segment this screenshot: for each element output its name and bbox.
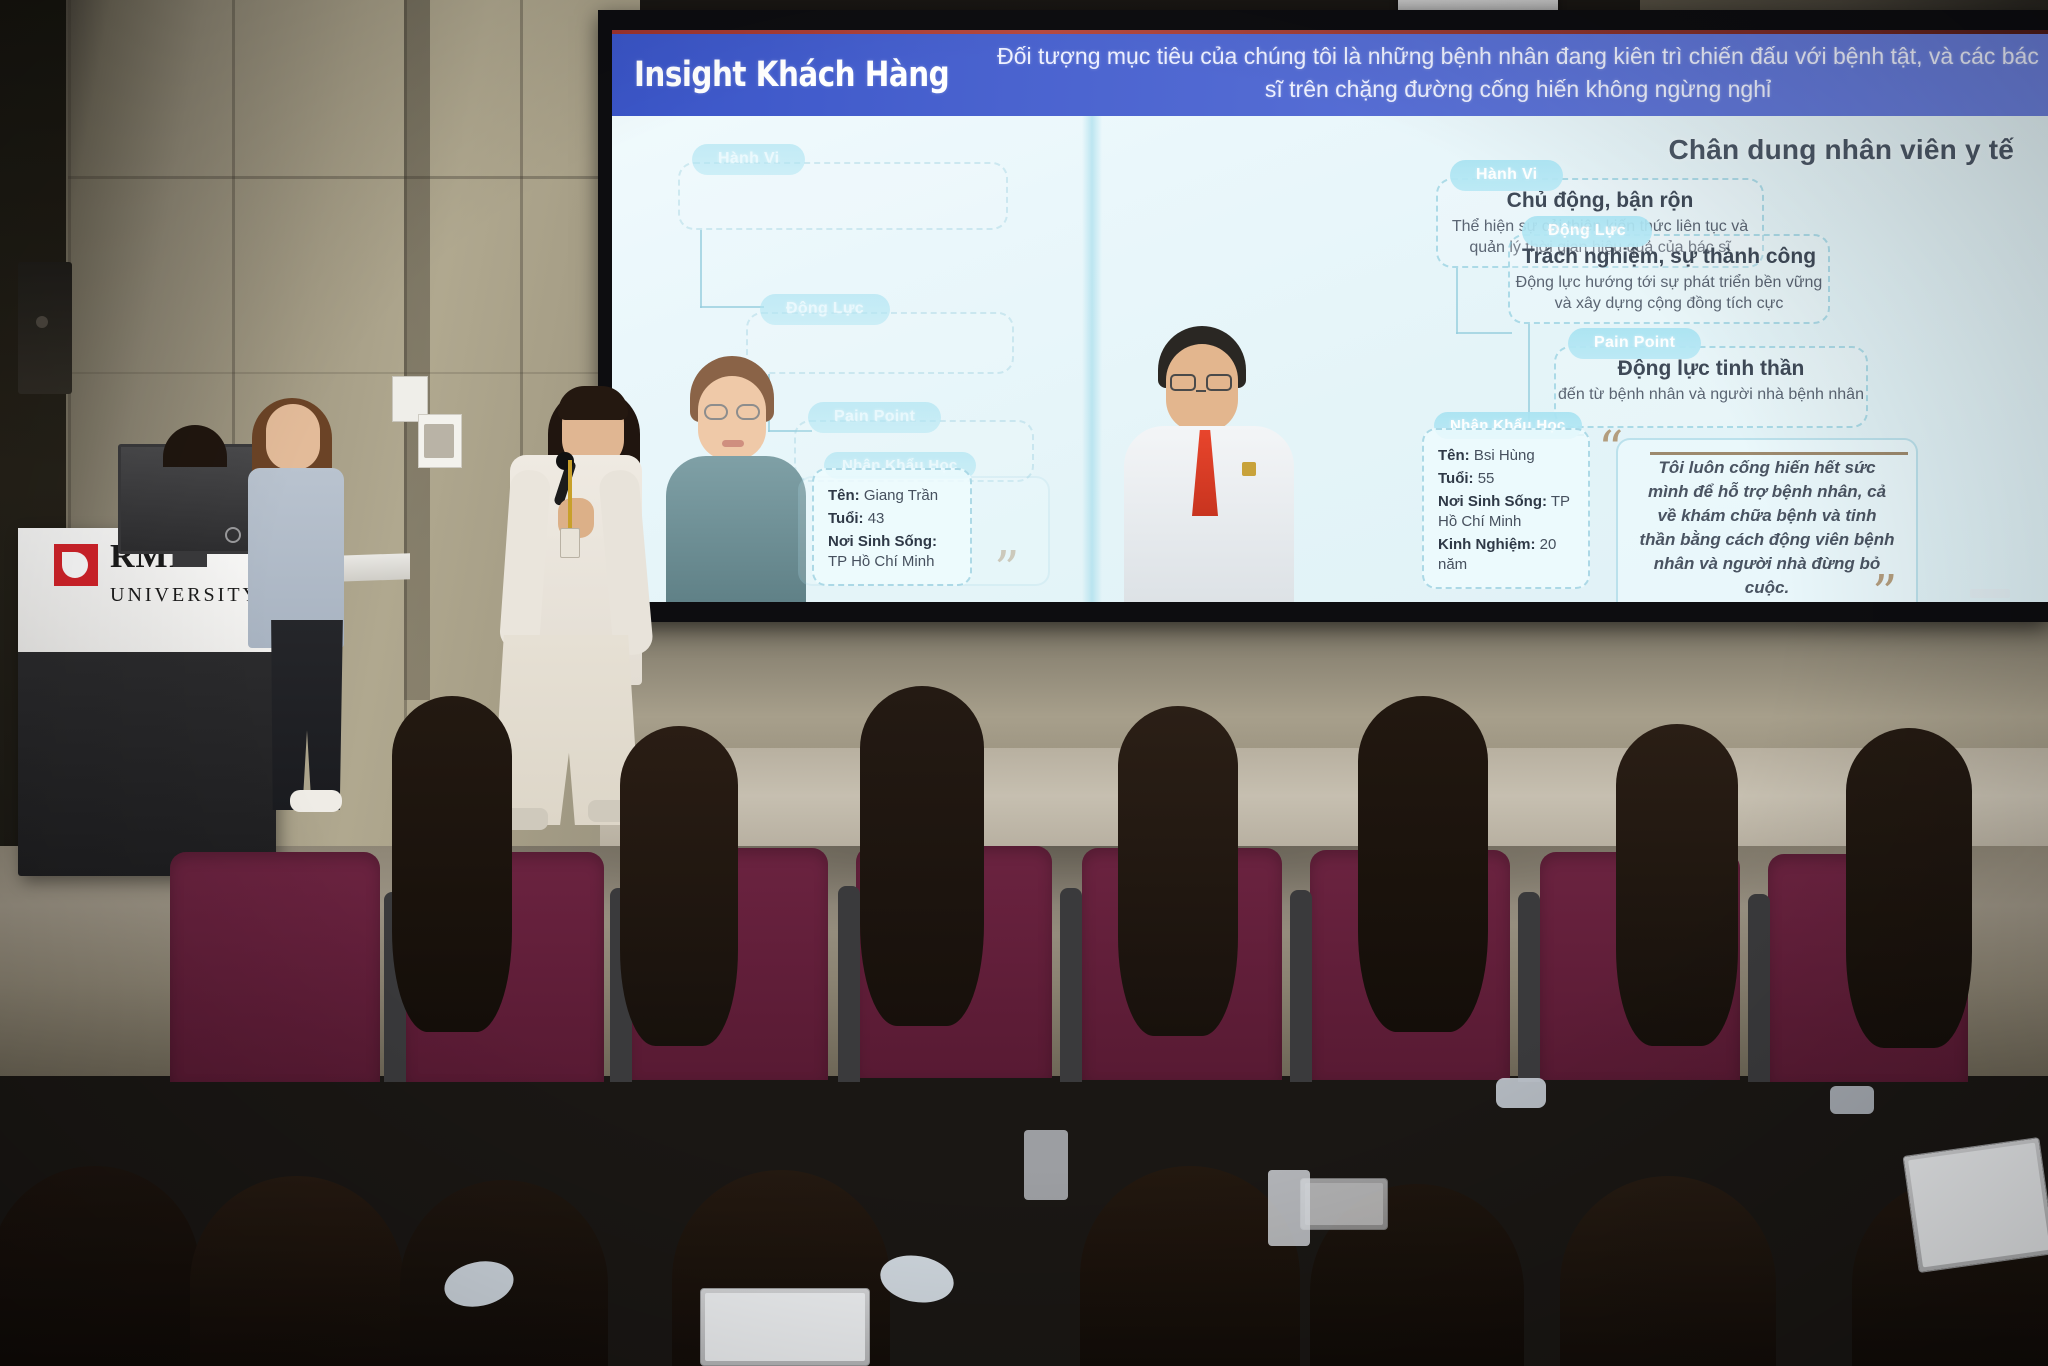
hair-clip-accessory (1830, 1086, 1874, 1114)
slide-header: Insight Khách Hàng Đối tượng mục tiêu củ… (612, 34, 2048, 116)
patient-mouth (722, 440, 744, 447)
laptop-screen (1305, 1183, 1383, 1225)
doctor-badge (1242, 462, 1256, 476)
doctor-glasses-bridge (1196, 390, 1206, 392)
right-card-2-body: đến từ bệnh nhân và người nhà bệnh nhân (1556, 384, 1866, 405)
audience-laptop (1902, 1137, 2048, 1273)
audience-laptop (700, 1288, 870, 1366)
seat-armrest (838, 886, 860, 1082)
lectern-podium: RMIT UNIVERSITY (18, 528, 276, 876)
doctor-glasses-right (1206, 374, 1232, 391)
left-persona-panel: Hành Vi Động Lực Pain Point (612, 116, 1082, 602)
wall-band-upper (600, 612, 2048, 762)
patient-demographics-card: Tên: Giang Trần Tuổi: 43 Nơi Sinh Sống: … (812, 468, 972, 586)
presenter-fringe (558, 386, 628, 420)
slide-subtitle: Đối tượng mục tiêu của chúng tôi là nhữn… (992, 40, 2048, 106)
quote-open-icon: “ (1598, 424, 1624, 474)
left-card-tag-pain-point: Pain Point (808, 402, 941, 433)
right-persona-panel: Chân dung nhân viên y tế Hành Vi Chủ độn… (1104, 116, 2048, 602)
left-connector-1 (700, 230, 702, 308)
seat (170, 852, 380, 1082)
quote-close-icon: ” (1872, 568, 1898, 602)
right-panel-heading: Chân dung nhân viên y tế (1669, 134, 2015, 166)
patient-glasses-right (736, 404, 760, 420)
doctor-demo-row-2-label: Nơi Sinh Sống: (1438, 493, 1547, 510)
doctor-glasses-left (1170, 374, 1196, 391)
seat-armrest (1290, 890, 1312, 1082)
left-card-tag-hanh-vi: Hành Vi (692, 144, 805, 175)
quote-rule-top (1650, 452, 1908, 455)
wall-pillar (404, 0, 430, 700)
seat-armrest (1060, 888, 1082, 1082)
wall-notice-photo (424, 424, 454, 458)
lanyard-strap (568, 460, 572, 532)
hair-clip-accessory (1496, 1078, 1546, 1108)
doctor-demo-row-0-value: Bsi Hùng (1474, 447, 1535, 464)
left-connector-2 (700, 306, 764, 308)
rmit-university-text: UNIVERSITY (110, 584, 260, 607)
slide-title: Insight Khách Hàng (634, 55, 949, 95)
left-card-tag-dong-luc: Động Lực (760, 294, 890, 325)
doctor-photo (1114, 322, 1304, 602)
dell-logo-icon (225, 527, 241, 543)
audience-notebook (1268, 1170, 1310, 1246)
second-presenter-head (266, 404, 320, 470)
doctor-demo-row-1-label: Tuổi: (1438, 470, 1474, 487)
doctor-demo-row-1-value: 55 (1478, 470, 1495, 487)
laptop-screen (705, 1293, 865, 1361)
panel-divider (1082, 116, 1102, 602)
patient-photo (652, 352, 817, 602)
wall-speaker-driver (36, 316, 48, 328)
wall-seam-h2 (68, 372, 608, 374)
laptop-screen (1908, 1143, 2048, 1268)
seat-armrest (1518, 892, 1540, 1082)
right-card-dong-luc: Trách nghiệm, sự thành công Động lực hướ… (1508, 234, 1830, 324)
patient-demo-row-0-label: Tên: (828, 487, 860, 504)
right-card-0-headline: Chủ động, bận rộn (1438, 188, 1762, 214)
doctor-quote-text: Tôi luôn cống hiến hết sức mình để hỗ tr… (1638, 456, 1896, 600)
audience-notebook (1024, 1130, 1068, 1200)
rmit-logo-icon (54, 544, 98, 586)
seat-armrest (1748, 894, 1770, 1082)
patient-demo-row-1-value: 43 (868, 510, 885, 527)
right-card-1-headline: Trách nghiệm, sự thành công (1510, 244, 1828, 270)
right-card-tag-dong-luc: Động Lực (1522, 216, 1652, 247)
patient-demo-row-2-label: Nơi Sinh Sống: (828, 533, 937, 550)
right-card-2-headline: Động lực tinh thần (1556, 356, 1866, 382)
right-card-tag-pain-point: Pain Point (1568, 328, 1701, 359)
slide-body: Hành Vi Động Lực Pain Point (612, 116, 2048, 602)
right-connector-2 (1456, 332, 1512, 334)
patient-glasses-left (704, 404, 728, 420)
doctor-demo-row-0-label: Tên: (1438, 447, 1470, 464)
doctor-demo-row-3-label: Kinh Nghiệm: (1438, 536, 1536, 553)
patient-body (666, 456, 806, 602)
screen-brand-plate (1970, 589, 2010, 598)
patient-demo-row-0-value: Giang Trần (864, 487, 938, 504)
patient-demo-row-2-value: TP Hồ Chí Minh (828, 553, 934, 570)
patient-demo-row-1-label: Tuổi: (828, 510, 864, 527)
right-connector-1 (1456, 268, 1458, 334)
right-card-tag-hanh-vi: Hành Vi (1450, 160, 1563, 191)
wall-speaker (18, 262, 72, 394)
lecture-hall-scene: PANASONIC Insight Khách Hàng Đối tượng m… (0, 0, 2048, 1366)
audience-laptop (1300, 1178, 1388, 1230)
second-presenter-shoe (290, 790, 342, 812)
wall-seam-h1 (68, 176, 608, 179)
id-badge (560, 528, 580, 558)
right-card-1-body: Động lực hướng tới sự phát triển bền vữn… (1510, 272, 1828, 314)
doctor-demographics-card: Tên: Bsi Hùng Tuổi: 55 Nơi Sinh Sống: TP… (1422, 428, 1590, 589)
presentation-slide: Insight Khách Hàng Đối tượng mục tiêu củ… (612, 34, 2048, 602)
